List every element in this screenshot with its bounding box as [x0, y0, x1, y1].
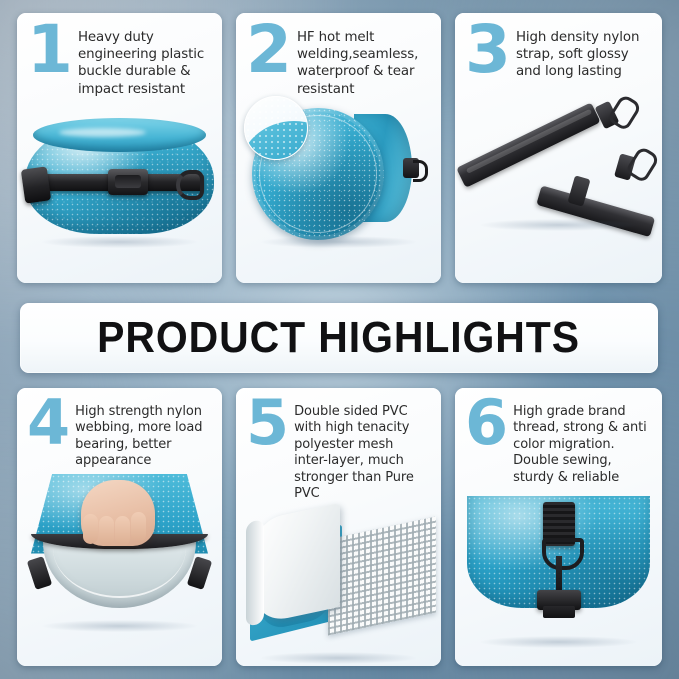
highlight-card-3[interactable]: 3 High density nylon strap, soft glossy … — [455, 13, 662, 283]
finger-2 — [99, 516, 114, 546]
buckle-clip — [21, 166, 51, 203]
strap-gloss — [466, 108, 592, 173]
finger-4 — [131, 512, 146, 542]
d-ring — [542, 538, 584, 570]
pvc-mesh-interlayer-sample-image — [236, 502, 441, 666]
plastic-buckle — [108, 169, 148, 195]
highlight-card-1[interactable]: 1 Heavy duty engineering plastic buckle … — [17, 13, 222, 283]
card-6-floor-shadow — [480, 636, 637, 648]
card-3-head: 3 High density nylon strap, soft glossy … — [455, 13, 662, 81]
banner-title: PRODUCT HIGHLIGHTS — [98, 313, 581, 363]
card-2-head: 2 HF hot melt welding,seamless, waterpro… — [236, 13, 441, 98]
card-1-number: 1 — [27, 23, 71, 77]
card-5-number: 5 — [246, 398, 287, 449]
card-5-photo — [236, 502, 441, 666]
bag-inner-liner — [43, 542, 196, 608]
card-6-head: 6 High grade brand thread, strong & anti… — [455, 388, 662, 486]
card-3-photo — [455, 81, 662, 241]
magnifier-glitter — [245, 97, 307, 159]
card-4-number: 4 — [27, 398, 68, 449]
card-2-number: 2 — [246, 23, 290, 77]
card-4-floor-shadow — [42, 620, 198, 632]
product-highlights-banner: PRODUCT HIGHLIGHTS — [20, 303, 658, 373]
white-pvc-sheet — [254, 503, 340, 625]
finger-1 — [83, 514, 98, 544]
polyester-mesh-interlayer — [328, 517, 436, 636]
card-6-photo — [455, 486, 662, 658]
card-1-floor-shadow — [42, 236, 198, 248]
finger-3 — [115, 516, 130, 546]
highlight-card-2[interactable]: 2 HF hot melt welding,seamless, waterpro… — [236, 13, 441, 283]
highlight-card-5[interactable]: 5 Double sided PVC with high tenacity po… — [236, 388, 441, 666]
card-5-text: Double sided PVC with high tenacity poly… — [294, 400, 430, 502]
highlights-grid: 1 Heavy duty engineering plastic buckle … — [0, 0, 679, 679]
card-4-text: High strength nylon webbing, more load b… — [75, 400, 211, 470]
card-5-head: 5 Double sided PVC with high tenacity po… — [236, 388, 441, 502]
hand-holding-webbing-handle-image — [17, 470, 222, 642]
bag-highlight — [59, 128, 146, 137]
d-ring-webbing-tab-image — [455, 486, 662, 658]
rolled-dry-bag-with-buckle-image — [25, 122, 214, 234]
magnifier-callout-icon — [244, 96, 308, 160]
card-3-number: 3 — [465, 23, 509, 77]
card-1-head: 1 Heavy duty engineering plastic buckle … — [17, 13, 222, 98]
bag-side-hook — [403, 158, 419, 178]
card-6-number: 6 — [465, 398, 506, 449]
buckle-clip — [537, 590, 581, 610]
card-2-text: HF hot melt welding,seamless, waterproof… — [297, 25, 430, 98]
card-1-text: Heavy duty engineering plastic buckle du… — [78, 25, 211, 98]
card-2-photo — [236, 98, 441, 258]
card-4-head: 4 High strength nylon webbing, more load… — [17, 388, 222, 470]
card-4-photo — [17, 470, 222, 642]
black-shoulder-strap-image — [455, 81, 662, 241]
card-1-photo — [17, 98, 222, 258]
card-3-text: High density nylon strap, soft glossy an… — [516, 25, 651, 81]
d-ring — [176, 170, 204, 200]
highlight-card-6[interactable]: 6 High grade brand thread, strong & anti… — [455, 388, 662, 666]
card-2-floor-shadow — [261, 236, 417, 248]
card-3-floor-shadow — [480, 219, 637, 231]
highlight-card-4[interactable]: 4 High strength nylon webbing, more load… — [17, 388, 222, 666]
card-6-text: High grade brand thread, strong & anti c… — [513, 400, 651, 486]
